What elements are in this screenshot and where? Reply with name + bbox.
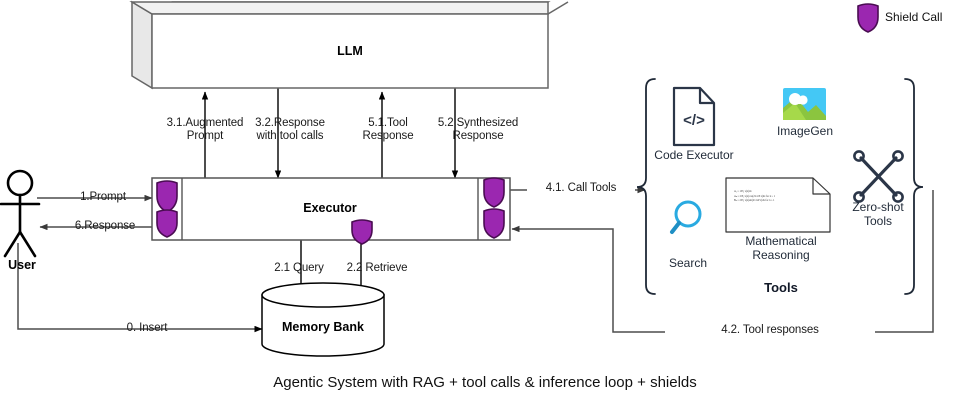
edge-label-6-response: 6.Response bbox=[58, 220, 152, 233]
edge-label-2-2-retrieve: 2.2 Retrieve bbox=[330, 262, 424, 275]
tool-label-search: Search bbox=[656, 256, 720, 270]
diagram-caption: Agentic System with RAG + tool calls & i… bbox=[0, 374, 970, 391]
tool-label-code-executor: Code Executor bbox=[648, 148, 740, 162]
tool-label-mathematical-reasoning: Mathematical Reasoning bbox=[730, 234, 832, 262]
edge-label-4-2-tool-responses: 4.2. Tool responses bbox=[665, 324, 875, 337]
llm-label: LLM bbox=[152, 44, 548, 58]
executor-label: Executor bbox=[182, 201, 478, 215]
svg-text:</>: </> bbox=[683, 112, 705, 129]
edge-label-3-2: 3.2.Response with tool calls bbox=[231, 117, 349, 143]
image-picture-icon bbox=[783, 88, 826, 120]
magnifier-icon bbox=[672, 202, 700, 232]
math-formula-text: A₀ = 1/P ∫ s(x)dx Aₙ = 2/P ∫ s(x)cos(2π … bbox=[734, 190, 824, 204]
shield-icon-executor-right-bottom bbox=[484, 209, 504, 238]
shield-icon-legend bbox=[858, 4, 878, 32]
edge-label-1-prompt: 1.Prompt bbox=[60, 191, 146, 204]
tools-brace-left bbox=[637, 79, 655, 294]
shield-icon-executor-left-top bbox=[157, 181, 177, 212]
edge-label-2-1-query: 2.1 Query bbox=[258, 262, 340, 275]
edge-label-4-1-call-tools: 4.1. Call Tools bbox=[527, 182, 635, 195]
user-label: User bbox=[0, 258, 44, 272]
shield-icon-executor-left-bottom bbox=[157, 210, 177, 237]
tools-panel-title: Tools bbox=[726, 280, 836, 295]
tool-label-imagegen: ImageGen bbox=[764, 124, 846, 138]
crossed-wrenches-icon bbox=[854, 151, 902, 201]
code-document-icon: </> bbox=[674, 88, 714, 145]
memory-bank-label: Memory Bank bbox=[262, 320, 384, 334]
diagram-canvas: </> bbox=[0, 0, 970, 411]
formula-document-icon bbox=[726, 178, 830, 232]
user-figure-icon bbox=[1, 171, 39, 256]
shield-icon-executor-right-top bbox=[484, 178, 504, 207]
legend-label-shield-call: Shield Call bbox=[885, 10, 942, 24]
edge-label-5-2: 5.2.Synthesized Response bbox=[423, 117, 533, 143]
tool-label-zero-shot-tools: Zero-shot Tools bbox=[838, 200, 918, 228]
tools-brace-right bbox=[905, 79, 923, 294]
connector-layer: </> bbox=[0, 0, 970, 411]
edge-label-0-insert: 0. Insert bbox=[92, 322, 202, 335]
edge-label-5-1: 5.1.Tool Response bbox=[340, 117, 436, 143]
